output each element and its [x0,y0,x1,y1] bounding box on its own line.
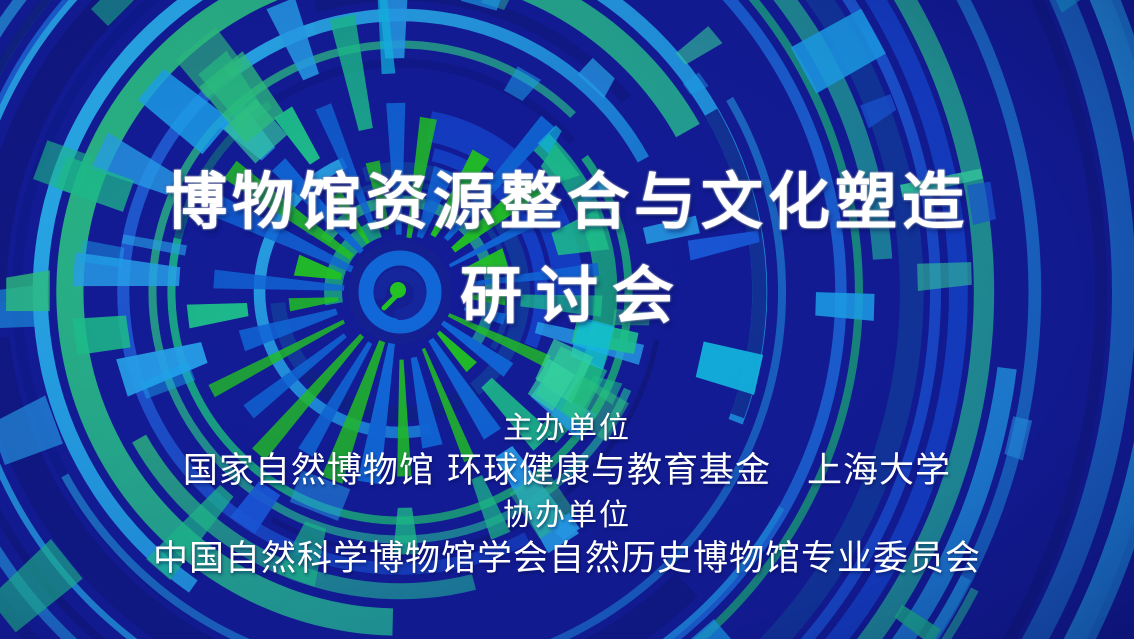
cohost-label: 协办单位 [0,496,1134,536]
conference-poster: 博物馆资源整合与文化塑造 研讨会 主办单位 国家自然博物馆 环球健康与教育基金 … [0,0,1134,639]
title-line-2: 研讨会 [0,257,1134,335]
title-line-1: 博物馆资源整合与文化塑造 [0,163,1134,241]
poster-text-layer: 博物馆资源整合与文化塑造 研讨会 主办单位 国家自然博物馆 环球健康与教育基金 … [0,0,1134,639]
host-label: 主办单位 [0,409,1134,449]
host-names: 国家自然博物馆 环球健康与教育基金 上海大学 [0,449,1134,494]
poster-title: 博物馆资源整合与文化塑造 研讨会 [0,163,1134,335]
cohost-names: 中国自然科学博物馆学会自然历史博物馆专业委员会 [0,537,1134,582]
organizer-block: 主办单位 国家自然博物馆 环球健康与教育基金 上海大学 协办单位 中国自然科学博… [0,409,1134,582]
